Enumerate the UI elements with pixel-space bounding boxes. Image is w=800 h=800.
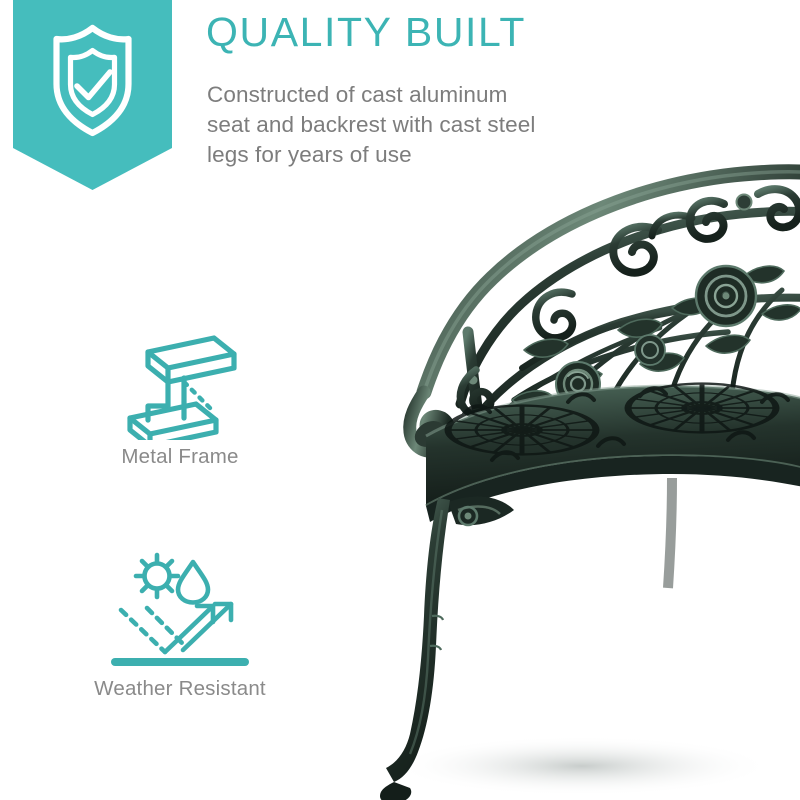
page-title: QUALITY BUILT	[206, 12, 626, 54]
feature-label: Metal Frame	[121, 445, 238, 468]
leaf	[524, 339, 568, 357]
bench-rear-leg	[668, 478, 672, 588]
product-image-bench	[372, 118, 800, 800]
feature-metal-frame: Metal Frame	[35, 330, 325, 469]
product-shadow	[392, 736, 772, 796]
rose-motif	[635, 335, 665, 365]
promo-graphic: QUALITY BUILT Constructed of cast alumin…	[0, 0, 800, 800]
sun-water-deflect-icon	[25, 552, 335, 677]
description-line-1: Constructed of cast aluminum	[207, 80, 647, 110]
quality-banner	[13, 0, 172, 190]
feature-label: Weather Resistant	[94, 677, 266, 700]
i-beam-icon	[35, 330, 325, 445]
feature-weather-resistant: Weather Resistant	[25, 552, 335, 701]
rose-motif	[696, 266, 756, 326]
